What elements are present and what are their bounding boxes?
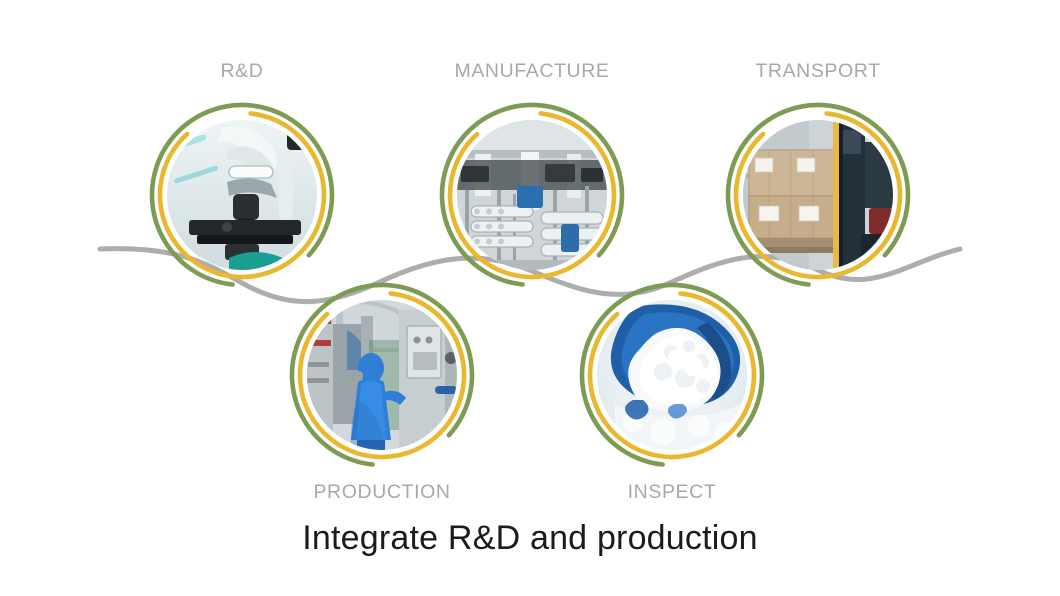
process-node-transport[interactable]	[722, 99, 914, 291]
ring-arc-yellow	[300, 293, 464, 457]
node-label-production: PRODUCTION	[232, 481, 532, 504]
ring-arc-yellow	[590, 293, 754, 457]
node-ring-inspect	[576, 279, 768, 471]
node-ring-rd	[146, 99, 338, 291]
infographic-canvas: R&DMANUFACTURETRANSPORTPRODUCTIONINSPECT…	[0, 0, 1060, 596]
ring-arc-green	[292, 285, 472, 465]
process-node-manufacture[interactable]	[436, 99, 628, 291]
process-node-production[interactable]	[286, 279, 478, 471]
ring-arc-green	[442, 105, 622, 285]
ring-arc-green	[728, 105, 908, 285]
ring-arc-yellow	[160, 113, 324, 277]
node-ring-transport	[722, 99, 914, 291]
ring-arc-yellow	[736, 113, 900, 277]
process-connector-wave	[0, 0, 1060, 596]
ring-arc-green	[582, 285, 762, 465]
node-label-transport: TRANSPORT	[668, 60, 968, 83]
node-label-inspect: INSPECT	[522, 481, 822, 504]
ring-arc-yellow	[450, 113, 614, 277]
process-node-inspect[interactable]	[576, 279, 768, 471]
node-label-rd: R&D	[92, 60, 392, 83]
node-ring-production	[286, 279, 478, 471]
process-node-rd[interactable]	[146, 99, 338, 291]
ring-arc-green	[152, 105, 332, 285]
node-ring-manufacture	[436, 99, 628, 291]
node-label-manufacture: MANUFACTURE	[382, 60, 682, 83]
page-title: Integrate R&D and production	[0, 519, 1060, 558]
